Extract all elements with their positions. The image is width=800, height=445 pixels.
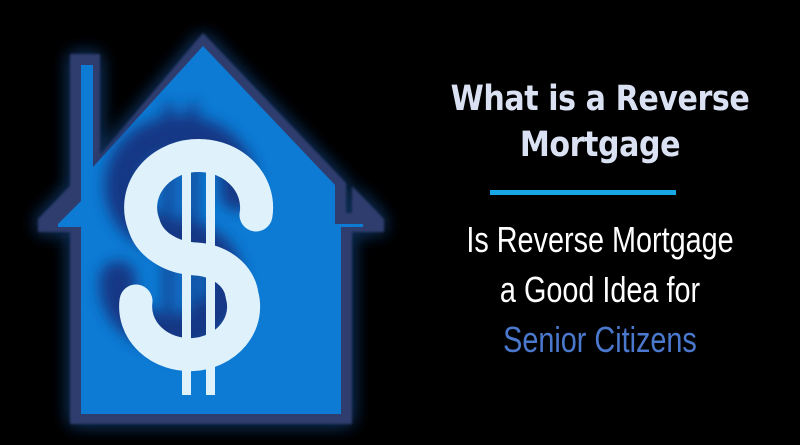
title-divider bbox=[490, 190, 676, 195]
graphic-panel bbox=[0, 0, 400, 445]
page-subtitle: Is Reverse Mortgage a Good Idea for Seni… bbox=[456, 215, 744, 365]
headline-line-2: Mortgage bbox=[445, 122, 755, 168]
headline-block: What is a Reverse Mortgage bbox=[420, 76, 780, 168]
house-dollar-icon bbox=[0, 0, 400, 445]
banner-canvas: What is a Reverse Mortgage Is Reverse Mo… bbox=[0, 0, 800, 445]
subhead-line-3-accent: Senior Citizens bbox=[456, 315, 744, 365]
subhead-line-2: a Good Idea for bbox=[456, 265, 744, 315]
subheadline-block: Is Reverse Mortgage a Good Idea for Seni… bbox=[420, 215, 780, 365]
headline-line-1: What is a Reverse bbox=[445, 76, 755, 122]
subhead-line-1: Is Reverse Mortgage bbox=[456, 215, 744, 265]
text-panel: What is a Reverse Mortgage Is Reverse Mo… bbox=[400, 0, 800, 445]
page-title: What is a Reverse Mortgage bbox=[445, 76, 755, 168]
